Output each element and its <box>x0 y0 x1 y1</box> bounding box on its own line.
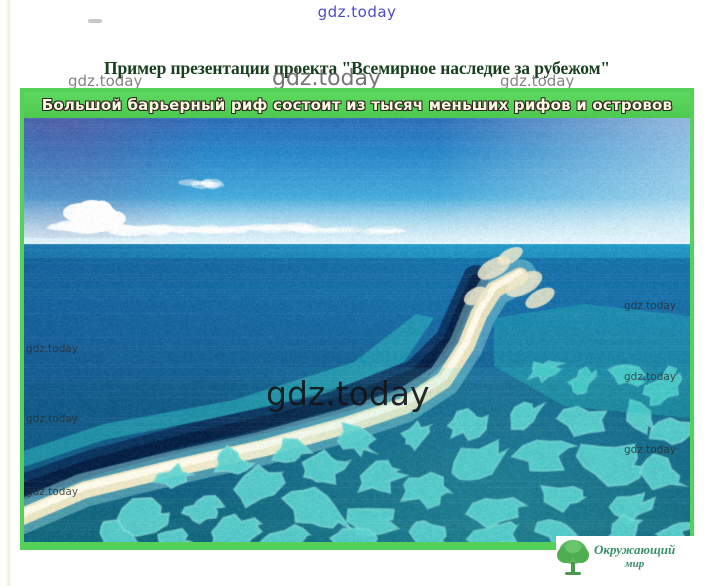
logo-line-2: мир <box>594 557 675 571</box>
logo-line-1: Окружающий <box>594 542 675 557</box>
slide-header-bar: Большой барьерный риф состоит из тысяч м… <box>24 92 690 118</box>
slide-header-text: Большой барьерный риф состоит из тысяч м… <box>42 96 673 114</box>
page-left-edge-line <box>0 0 2 586</box>
top-watermark: gdz.today <box>0 3 714 21</box>
tree-icon <box>556 538 590 576</box>
reef-photo: gdz.today gdz.today gdz.today gdz.today … <box>24 118 690 542</box>
reef-photo-canvas <box>24 118 690 542</box>
publisher-logo: Окружающий мир <box>556 536 702 578</box>
logo-text: Окружающий мир <box>594 543 675 571</box>
page-left-edge-strip <box>5 0 12 586</box>
presentation-slide-frame: Большой барьерный риф состоит из тысяч м… <box>20 88 694 550</box>
scan-artifact-mark <box>88 19 102 23</box>
